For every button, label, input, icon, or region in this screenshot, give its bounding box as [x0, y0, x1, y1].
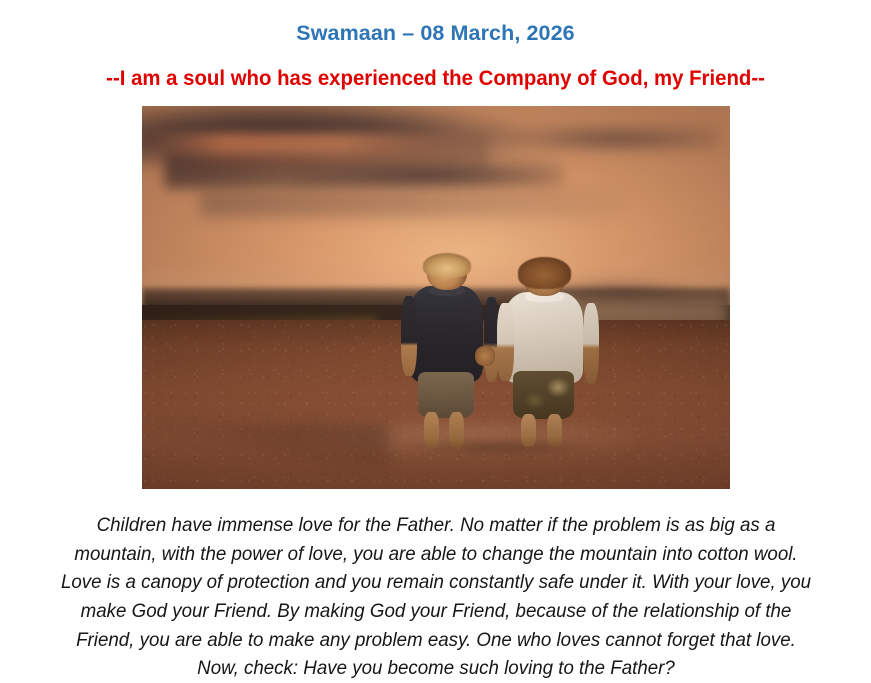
slide-subtitle: --I am a soul who has experienced the Co… — [106, 67, 765, 90]
boy-left-hair — [423, 253, 471, 278]
boy-right-arm-inner — [497, 303, 513, 380]
boy-right-arm-outer — [583, 303, 599, 384]
boy-left-arm-outer — [401, 296, 417, 376]
cloud-wisp-center — [294, 163, 564, 188]
boy-right-leg-left — [521, 414, 536, 447]
page-title: Swamaan – 08 March, 2026 — [296, 22, 574, 46]
boy-left-shirt — [409, 286, 483, 382]
boy-right-figure — [497, 263, 600, 447]
boy-right-hair — [518, 257, 572, 288]
boy-left-leg-right — [449, 412, 464, 448]
cloud-band-low — [200, 190, 623, 217]
sunset-road-photo — [142, 106, 730, 489]
body-paragraph: Children have immense love for the Fathe… — [56, 511, 814, 683]
boy-right-shirt — [504, 292, 582, 382]
boy-left-leg-left — [424, 412, 439, 448]
slide-canvas: Swamaan – 08 March, 2026 --I am a soul w… — [0, 0, 871, 683]
photo-frame — [142, 106, 730, 489]
road-shadow-left — [142, 425, 389, 469]
boy-left-shorts — [418, 372, 474, 418]
boy-right-shorts — [513, 371, 575, 419]
boy-right-leg-right — [547, 414, 562, 447]
cloud-wisp-right — [483, 125, 718, 152]
joined-hands — [475, 346, 495, 367]
